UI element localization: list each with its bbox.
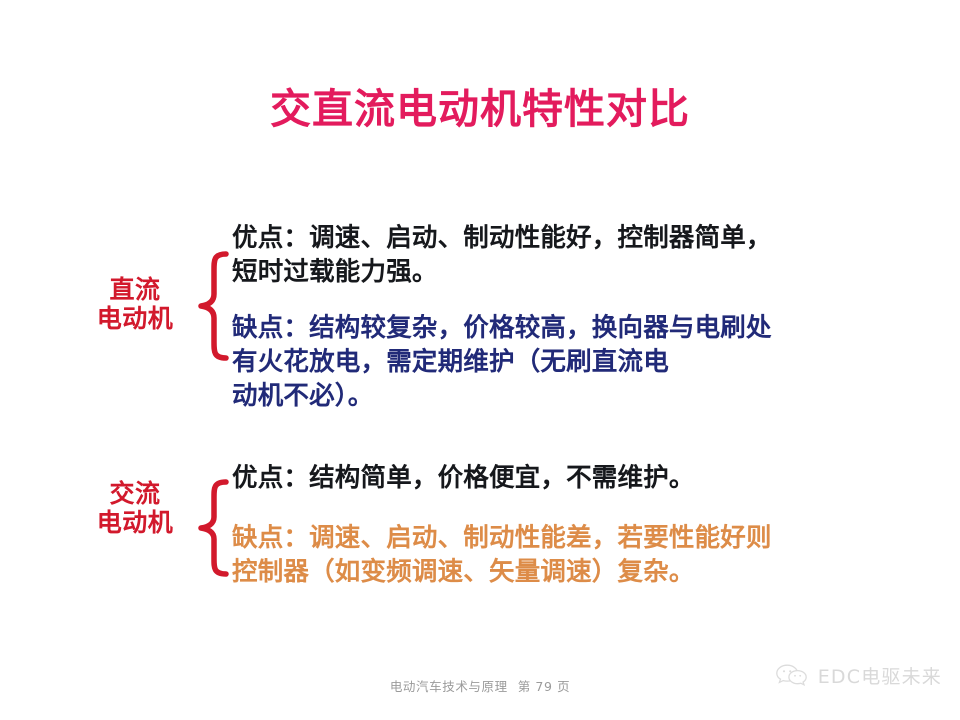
row-ac-disadvantages-line1: 缺点：调速、启动、制动性能差，若要性能好则 — [232, 522, 932, 556]
curly-brace-icon-dc — [196, 250, 236, 366]
row-dc-advantages-head: 优点： — [232, 223, 309, 253]
row-dc-disadvantages-line1: 缺点：结构较复杂，价格较高，换向器与电刷处 — [232, 312, 932, 346]
row-ac-advantages: 优点：结构简单，价格便宜，不需维护。 — [232, 462, 932, 496]
row-ac-disadvantages: 缺点：调速、启动、制动性能差，若要性能好则 控制器（如变频调速、矢量调速）复杂。 — [232, 522, 932, 590]
row-dc-disadvantages-text1: 结构较复杂，价格较高，换向器与电刷处 — [309, 313, 772, 343]
row-ac-disadvantages-head: 缺点： — [232, 523, 309, 553]
footer-book-title: 电动汽车技术与原理 — [390, 679, 508, 694]
row-dc-advantages-line1: 优点：调速、启动、制动性能好，控制器简单， — [232, 222, 932, 256]
row-ac-advantages-line1: 优点：结构简单，价格便宜，不需维护。 — [232, 462, 932, 496]
watermark-text: EDC电驱未来 — [818, 662, 942, 689]
content-rows-ac: 优点：结构简单，价格便宜，不需维护。 缺点：调速、启动、制动性能差，若要性能好则… — [232, 462, 932, 590]
group-label-ac-line2: 电动机 — [72, 509, 198, 538]
content-rows-dc: 优点：调速、启动、制动性能好，控制器简单， 短时过载能力强。 缺点：结构较复杂，… — [232, 222, 932, 414]
row-dc-disadvantages-line2: 有火花放电，需定期维护（无刷直流电 — [232, 346, 932, 380]
row-dc-disadvantages-head: 缺点： — [232, 313, 309, 343]
wechat-icon — [775, 663, 809, 689]
row-dc-disadvantages-line3: 动机不必）。 — [232, 380, 932, 414]
row-dc-advantages: 优点：调速、启动、制动性能好，控制器简单， 短时过载能力强。 — [232, 222, 932, 290]
page-title: 交直流电动机特性对比 — [0, 86, 960, 133]
group-label-dc-motor: 直流 电动机 — [72, 276, 198, 333]
row-dc-advantages-text1: 调速、启动、制动性能好，控制器简单， — [309, 223, 772, 253]
row-ac-disadvantages-text1: 调速、启动、制动性能差，若要性能好则 — [309, 523, 772, 553]
curly-brace-icon-ac — [196, 478, 236, 582]
row-ac-disadvantages-line2: 控制器（如变频调速、矢量调速）复杂。 — [232, 556, 932, 590]
row-dc-disadvantages: 缺点：结构较复杂，价格较高，换向器与电刷处 有火花放电，需定期维护（无刷直流电 … — [232, 312, 932, 414]
group-label-dc-line2: 电动机 — [72, 305, 198, 334]
footer-page-number: 第 79 页 — [518, 679, 570, 694]
group-label-ac-motor: 交流 电动机 — [72, 480, 198, 537]
group-label-dc-line1: 直流 — [72, 276, 198, 305]
group-label-ac-line1: 交流 — [72, 480, 198, 509]
row-ac-advantages-text1: 结构简单，价格便宜，不需维护。 — [309, 463, 695, 493]
row-dc-advantages-line2: 短时过载能力强。 — [232, 256, 932, 290]
watermark: EDC电驱未来 — [775, 662, 942, 689]
row-ac-advantages-head: 优点： — [232, 463, 309, 493]
